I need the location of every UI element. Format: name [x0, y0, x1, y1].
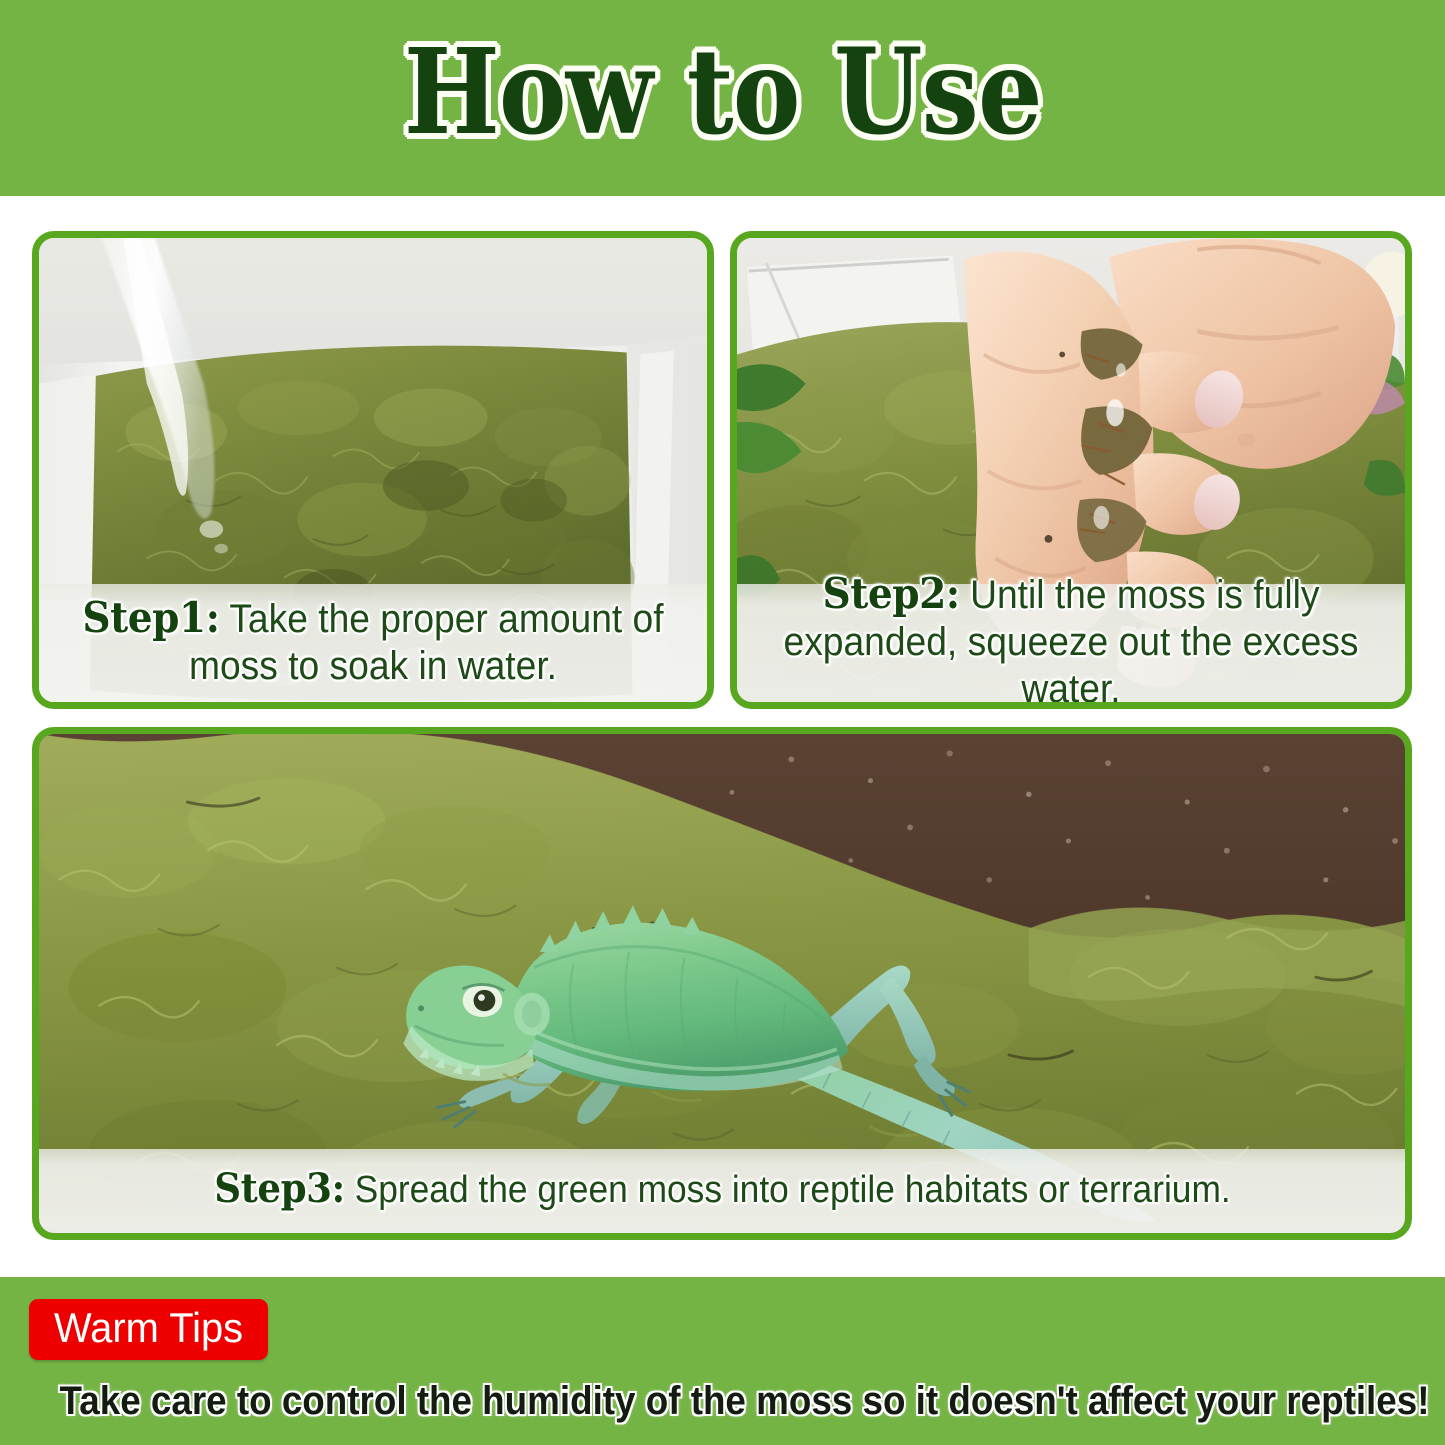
- step-1-text: Take the proper amount of moss to soak i…: [189, 597, 664, 688]
- header-band: How to Use: [0, 0, 1445, 196]
- step-2-label: Step2:: [823, 569, 960, 618]
- warm-tip-line: Take care to control the humidity of the…: [0, 1381, 1445, 1421]
- step-3-label: Step3:: [214, 1165, 345, 1212]
- page-title: How to Use: [404, 33, 1042, 163]
- step-card-3: Step3: Spread the green moss into reptil…: [32, 727, 1412, 1240]
- step-3-caption: Step3: Spread the green moss into reptil…: [39, 1149, 1405, 1233]
- footer-band: Warm Tips Take care to control the humid…: [0, 1277, 1445, 1445]
- step-1-caption-text: Step1: Take the proper amount of moss to…: [75, 593, 670, 690]
- step-3-caption-text: Step3: Spread the green moss into reptil…: [214, 1166, 1230, 1213]
- warm-tips-badge: Warm Tips: [29, 1299, 268, 1360]
- step-card-1: Step1: Take the proper amount of moss to…: [32, 231, 714, 709]
- infographic-page: How to Use: [0, 0, 1445, 1445]
- step-card-2: Step2: Until the moss is fully expanded,…: [730, 231, 1412, 709]
- step-2-caption-text: Step2: Until the moss is fully expanded,…: [773, 569, 1368, 709]
- step-1-label: Step1:: [82, 593, 219, 642]
- warm-tips-label: Warm Tips: [54, 1307, 243, 1349]
- warm-tip-text: Take care to control the humidity of the…: [60, 1381, 1430, 1421]
- step-1-caption: Step1: Take the proper amount of moss to…: [39, 584, 707, 702]
- step-2-caption: Step2: Until the moss is fully expanded,…: [737, 584, 1405, 702]
- step-3-text: Spread the green moss into reptile habit…: [354, 1169, 1230, 1211]
